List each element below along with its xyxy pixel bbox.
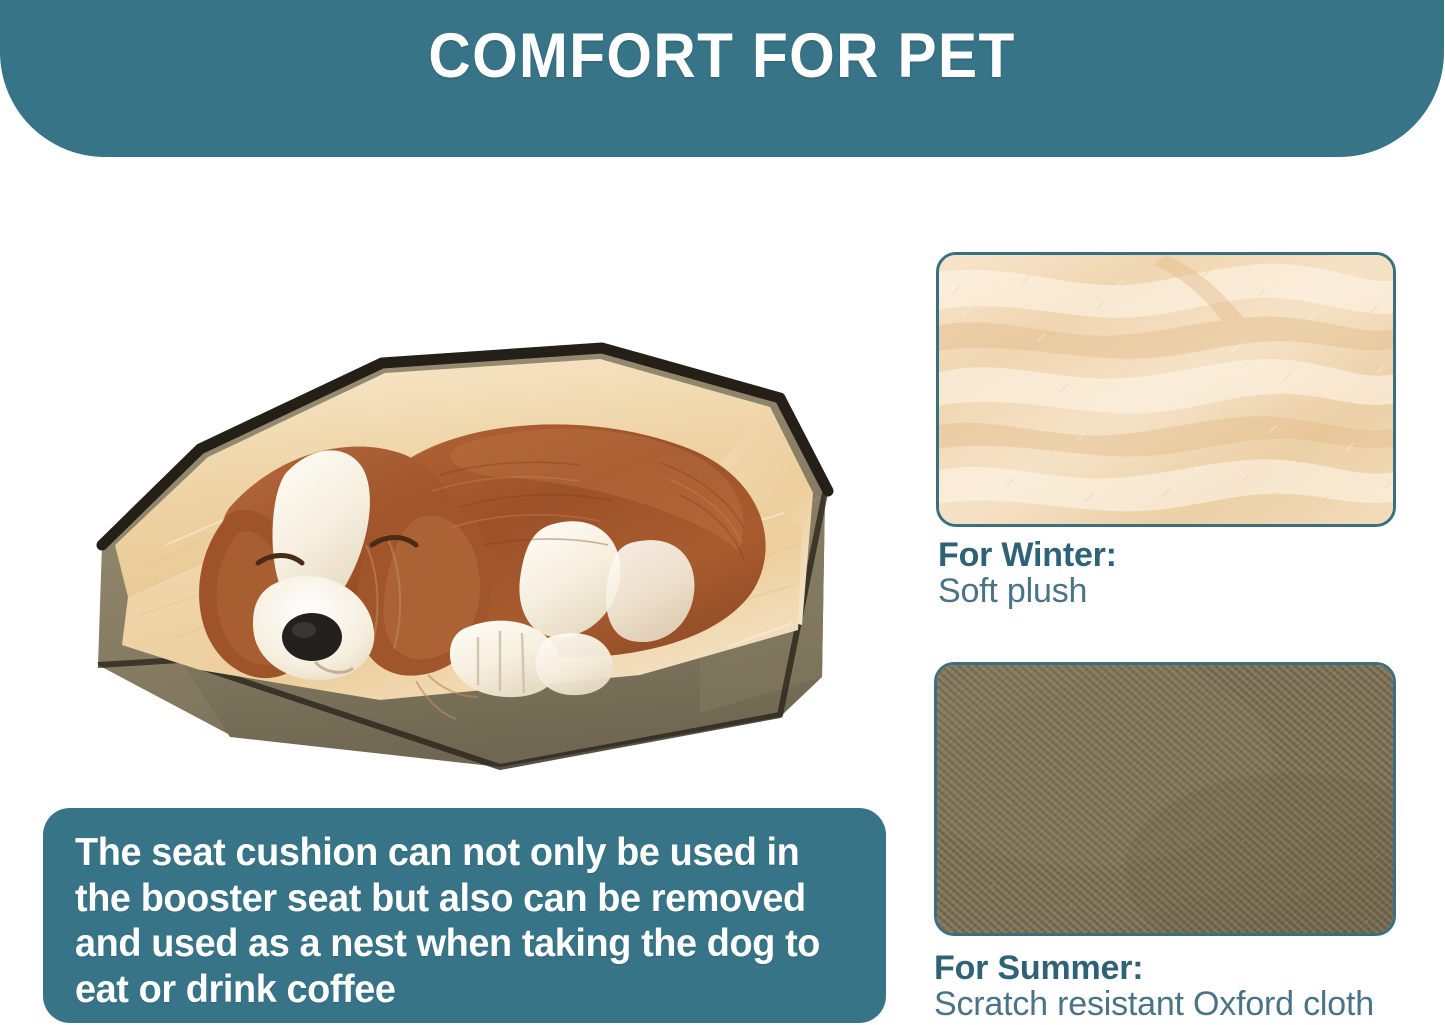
plush-texture [939,255,1393,524]
feature-callout-box: The seat cushion can not only be used in… [43,808,886,1023]
summer-caption: For Summer: Scratch resistant Oxford clo… [934,950,1374,1022]
oxford-texture [937,665,1393,933]
infographic-page: COMFORT FOR PET [0,0,1445,1025]
winter-caption-title: For Winter: [938,537,1117,573]
header-banner: COMFORT FOR PET [0,0,1444,157]
summer-caption-subtitle: Scratch resistant Oxford cloth [934,986,1374,1022]
winter-caption-subtitle: Soft plush [938,573,1117,609]
pet-bed-illustration [80,245,870,775]
product-photo [80,245,870,775]
oxford-swatch [934,662,1396,936]
feature-callout-text: The seat cushion can not only be used in… [75,830,838,1013]
summer-caption-title: For Summer: [934,950,1374,986]
page-title: COMFORT FOR PET [51,20,1394,92]
plush-swatch [936,252,1396,527]
winter-caption: For Winter: Soft plush [938,537,1117,609]
